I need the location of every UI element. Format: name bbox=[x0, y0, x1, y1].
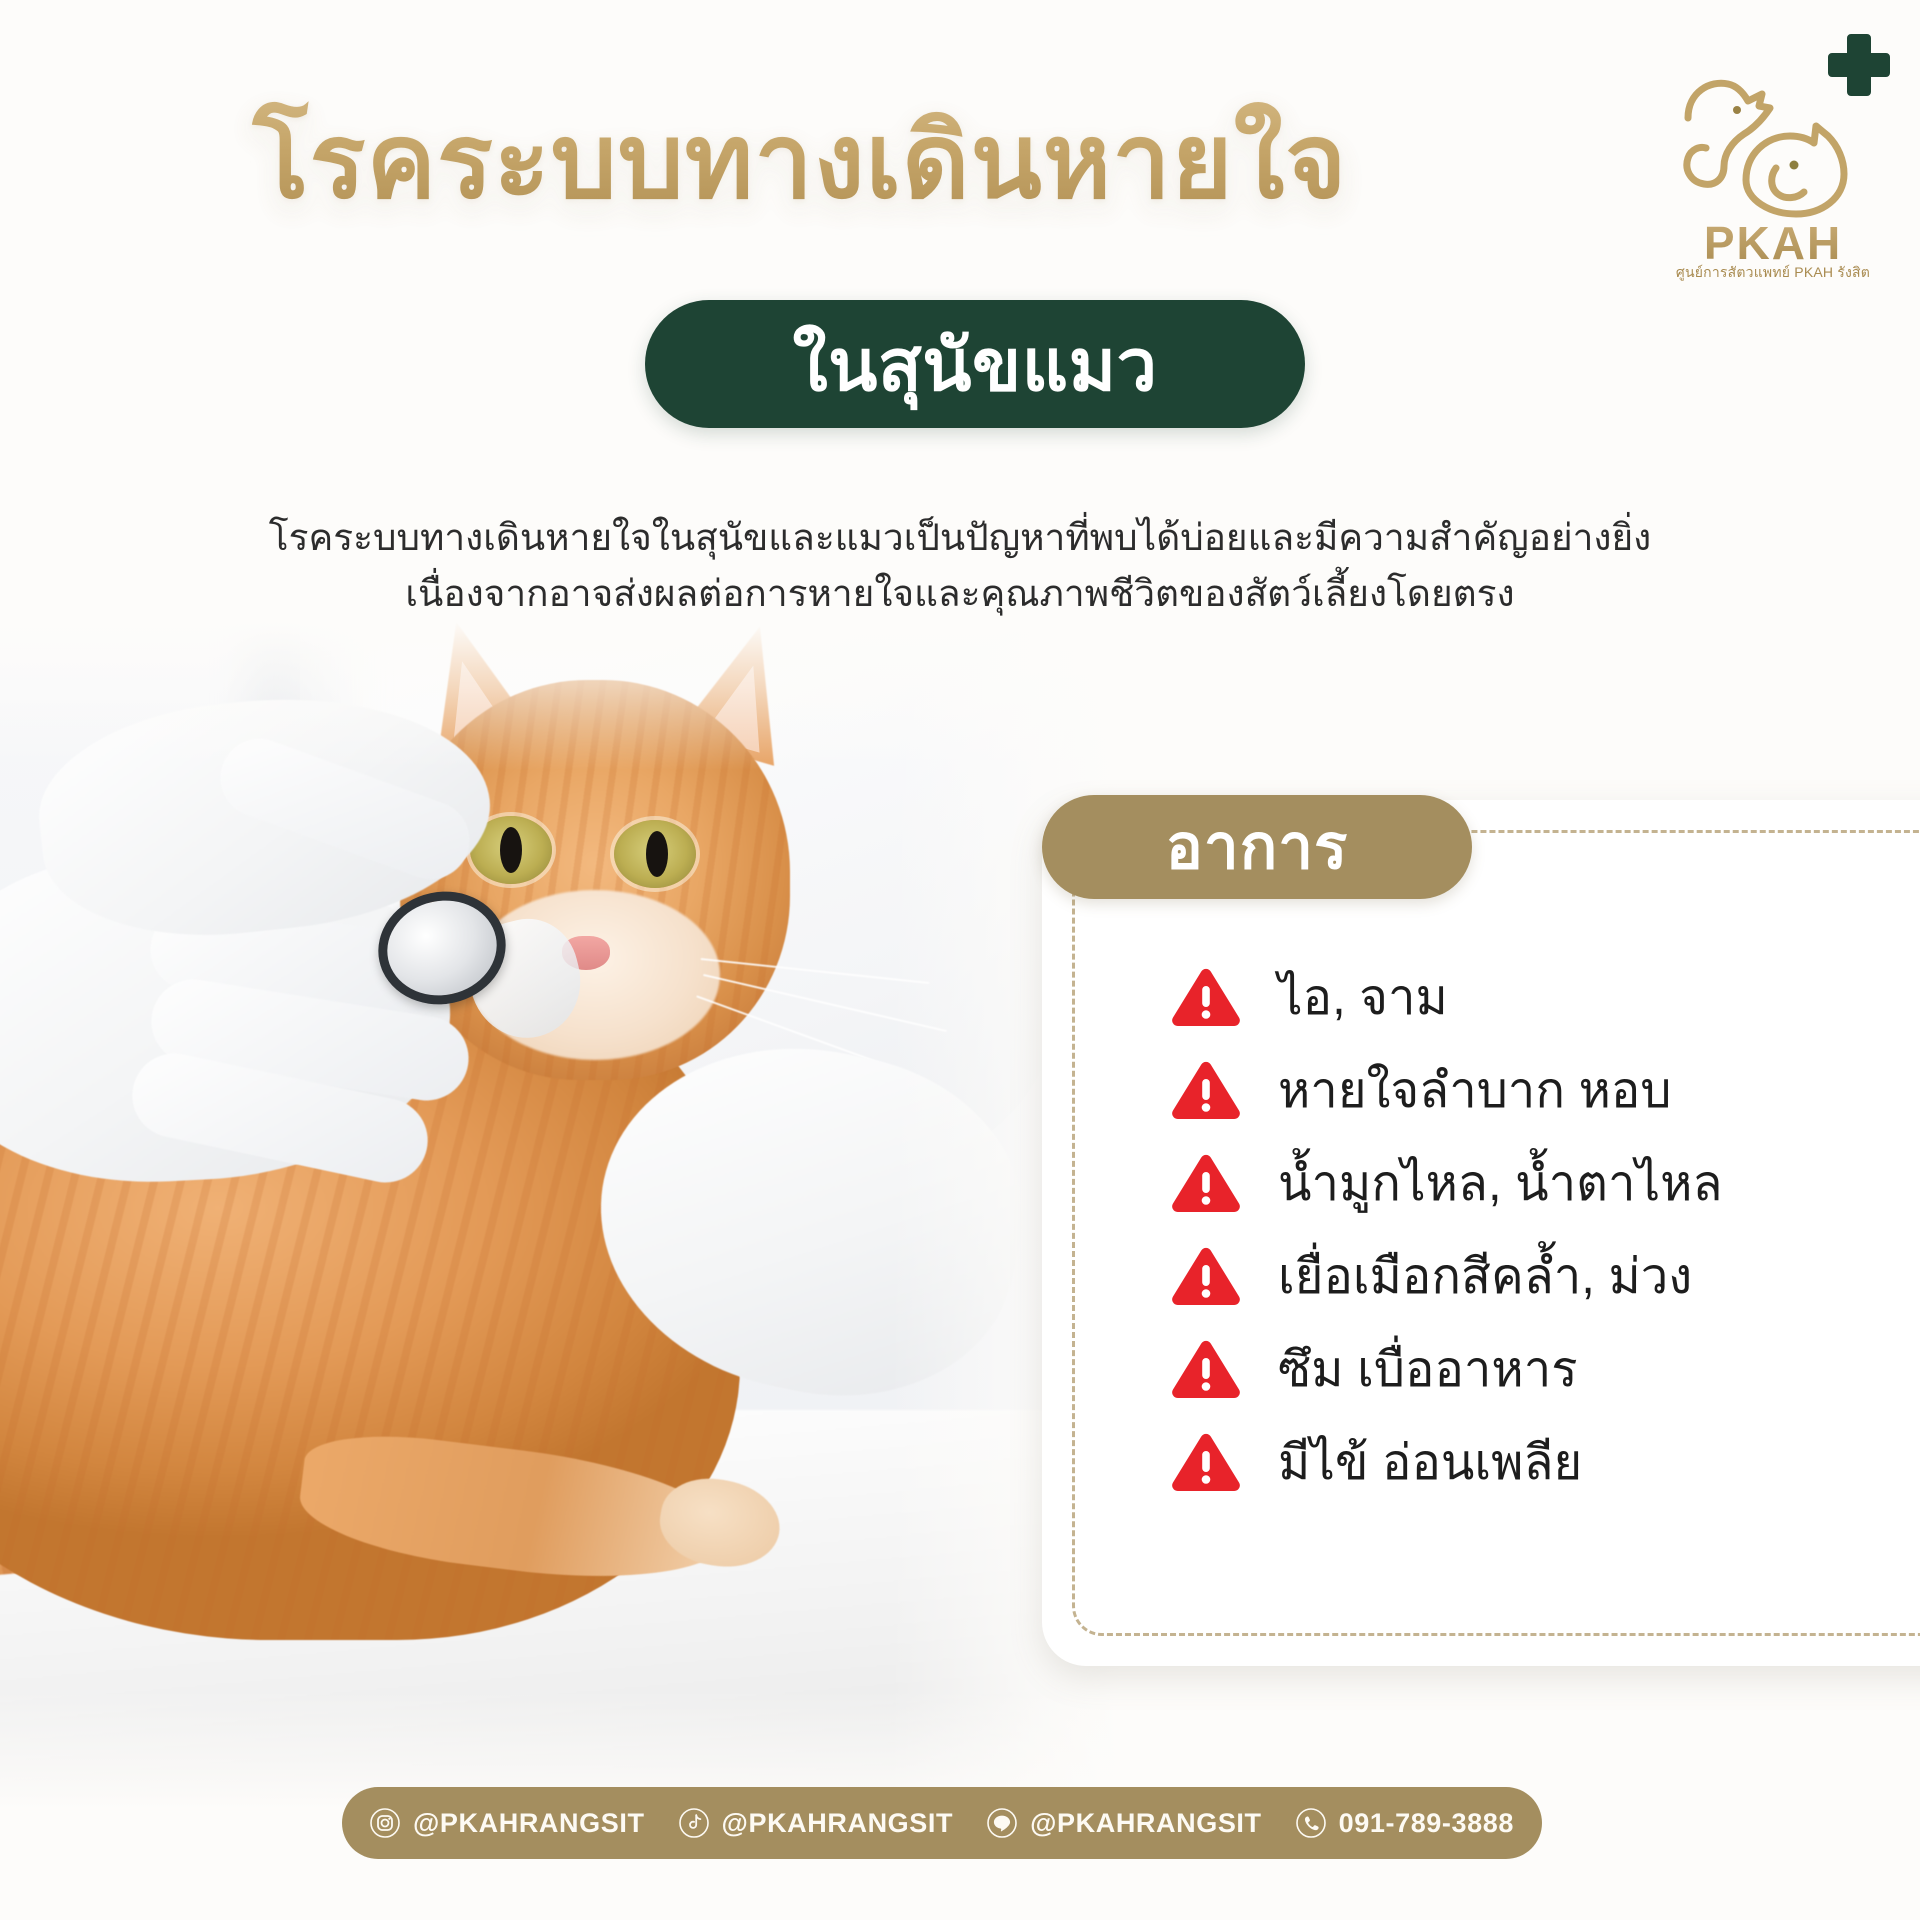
subtitle-badge: ในสุนัขแมว bbox=[645, 300, 1305, 428]
contact-label: @PKAHRANGSIT bbox=[413, 1808, 645, 1839]
symptoms-list: ไอ, จาม หายใจลำบาก หอบ น้ำมูกไหล, น้ำตาไ… bbox=[1170, 952, 1920, 1510]
symptom-label: น้ำมูกไหล, น้ำตาไหล bbox=[1278, 1160, 1723, 1209]
warning-triangle-icon bbox=[1170, 1245, 1242, 1311]
contact-instagram[interactable]: @PKAHRANGSIT bbox=[370, 1808, 645, 1839]
list-item: เยื่อเมือกสีคล้ำ, ม่วง bbox=[1170, 1231, 1920, 1324]
brand-logo: PKAH ศูนย์การสัตวแพทย์ PKAH รังสิต bbox=[1648, 38, 1898, 268]
list-item: ซึม เบื่ออาหาร bbox=[1170, 1324, 1920, 1417]
intro-line-1: โรคระบบทางเดินหายใจในสุนัขและแมวเป็นปัญห… bbox=[230, 510, 1690, 566]
brand-subtitle: ศูนย์การสัตวแพทย์ PKAH รังสิต bbox=[1648, 262, 1898, 284]
intro-line-2: เนื่องจากอาจส่งผลต่อการหายใจและคุณภาพชีว… bbox=[230, 566, 1690, 622]
contact-tiktok[interactable]: @PKAHRANGSIT bbox=[679, 1808, 954, 1839]
contact-label: @PKAHRANGSIT bbox=[1030, 1808, 1262, 1839]
contact-label: 091-789-3888 bbox=[1339, 1808, 1514, 1839]
list-item: หายใจลำบาก หอบ bbox=[1170, 1045, 1920, 1138]
dog-and-cat-heads-icon bbox=[1658, 70, 1858, 220]
contact-label: @PKAHRANGSIT bbox=[722, 1808, 954, 1839]
symptoms-card-heading: อาการ bbox=[1042, 795, 1472, 899]
contact-phone[interactable]: 091-789-3888 bbox=[1296, 1808, 1514, 1839]
warning-triangle-icon bbox=[1170, 1431, 1242, 1497]
warning-triangle-icon bbox=[1170, 966, 1242, 1032]
list-item: น้ำมูกไหล, น้ำตาไหล bbox=[1170, 1138, 1920, 1231]
subtitle-badge-label: ในสุนัขแมว bbox=[792, 307, 1157, 422]
tiktok-icon bbox=[679, 1808, 709, 1838]
vet-cat-photo bbox=[0, 620, 1120, 1810]
list-item: มีไข้ อ่อนเพลีย bbox=[1170, 1417, 1920, 1510]
list-item: ไอ, จาม bbox=[1170, 952, 1920, 1045]
contact-line[interactable]: @PKAHRANGSIT bbox=[987, 1808, 1262, 1839]
symptom-label: ซึม เบื่ออาหาร bbox=[1278, 1346, 1578, 1395]
symptom-label: เยื่อเมือกสีคล้ำ, ม่วง bbox=[1278, 1253, 1692, 1302]
intro-paragraph: โรคระบบทางเดินหายใจในสุนัขและแมวเป็นปัญห… bbox=[230, 510, 1690, 621]
warning-triangle-icon bbox=[1170, 1338, 1242, 1404]
warning-triangle-icon bbox=[1170, 1059, 1242, 1125]
symptom-label: หายใจลำบาก หอบ bbox=[1278, 1067, 1671, 1116]
phone-icon bbox=[1296, 1808, 1326, 1838]
line-icon bbox=[987, 1808, 1017, 1838]
instagram-icon bbox=[370, 1808, 400, 1838]
page-title: โรคระบบทางเดินหายใจ bbox=[0, 78, 1600, 243]
symptom-label: มีไข้ อ่อนเพลีย bbox=[1278, 1439, 1582, 1488]
cat-pupil-right bbox=[646, 831, 668, 877]
infographic-poster: โรคระบบทางเดินหายใจ ในสุนัขแมว โรคระบบทา… bbox=[0, 0, 1920, 1920]
warning-triangle-icon bbox=[1170, 1152, 1242, 1218]
contact-footer-bar: @PKAHRANGSIT @PKAHRANGSIT @PKAHRANGSIT 0… bbox=[342, 1787, 1542, 1859]
symptom-label: ไอ, จาม bbox=[1278, 974, 1448, 1023]
symptoms-heading-label: อาการ bbox=[1166, 798, 1349, 896]
cat-pupil-left bbox=[500, 827, 522, 873]
